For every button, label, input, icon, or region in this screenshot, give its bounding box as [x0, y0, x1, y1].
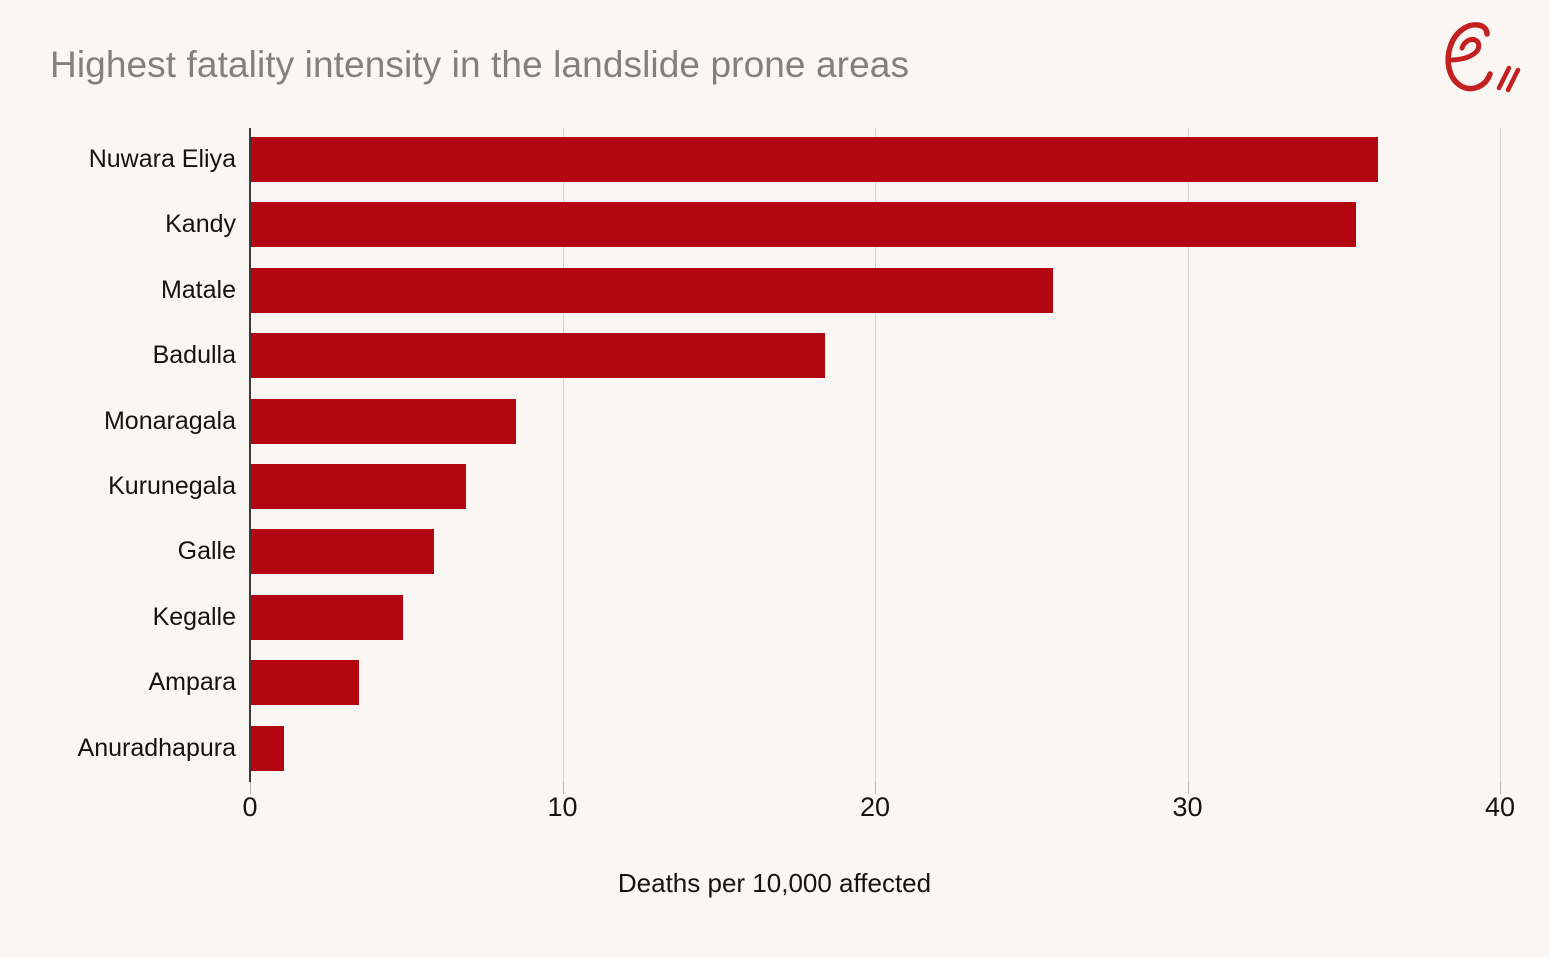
bar-series — [250, 128, 1500, 782]
bar-ampara[interactable] — [250, 660, 359, 705]
bar-row — [250, 259, 1500, 322]
bar-row — [250, 324, 1500, 387]
bar-kandy[interactable] — [250, 202, 1356, 247]
bar-row — [250, 455, 1500, 518]
page-title: Highest fatality intensity in the landsl… — [50, 44, 909, 86]
x-axis-tick-labels: 010203040 — [0, 792, 1549, 832]
y-axis-label-kegalle: Kegalle — [153, 586, 236, 649]
plot-area — [250, 128, 1500, 782]
y-axis-label-galle: Galle — [178, 520, 236, 583]
x-tick-label-20: 20 — [860, 792, 890, 823]
y-axis-label-monaragala: Monaragala — [104, 390, 236, 453]
y-axis-line — [249, 128, 251, 782]
bar-matale[interactable] — [250, 268, 1053, 313]
bar-badulla[interactable] — [250, 333, 825, 378]
economist-e-logo — [1425, 12, 1525, 112]
y-axis-label-ampara: Ampara — [148, 651, 236, 714]
bar-row — [250, 390, 1500, 453]
bar-kurunegala[interactable] — [250, 464, 466, 509]
bar-monaragala[interactable] — [250, 399, 516, 444]
y-axis-label-matale: Matale — [161, 259, 236, 322]
bar-kegalle[interactable] — [250, 595, 403, 640]
bar-row — [250, 520, 1500, 583]
x-tick-label-10: 10 — [547, 792, 577, 823]
bar-anuradhapura[interactable] — [250, 726, 284, 771]
y-axis-label-kandy: Kandy — [165, 193, 236, 256]
gridline-40 — [1500, 128, 1501, 782]
x-axis-title: Deaths per 10,000 affected — [0, 868, 1549, 899]
bar-nuwara-eliya[interactable] — [250, 137, 1378, 182]
y-axis-label-nuwara-eliya: Nuwara Eliya — [89, 128, 236, 191]
x-tick-label-40: 40 — [1485, 792, 1515, 823]
bar-galle[interactable] — [250, 529, 434, 574]
y-axis-label-anuradhapura: Anuradhapura — [78, 717, 236, 780]
x-tick-label-0: 0 — [242, 792, 257, 823]
y-axis-label-kurunegala: Kurunegala — [108, 455, 236, 518]
y-axis-label-badulla: Badulla — [153, 324, 236, 387]
bar-row — [250, 717, 1500, 780]
bar-row — [250, 193, 1500, 256]
bar-row — [250, 651, 1500, 714]
bar-row — [250, 586, 1500, 649]
y-axis-category-labels: Nuwara EliyaKandyMataleBadullaMonaragala… — [0, 128, 236, 782]
bar-row — [250, 128, 1500, 191]
x-tick-label-30: 30 — [1172, 792, 1202, 823]
